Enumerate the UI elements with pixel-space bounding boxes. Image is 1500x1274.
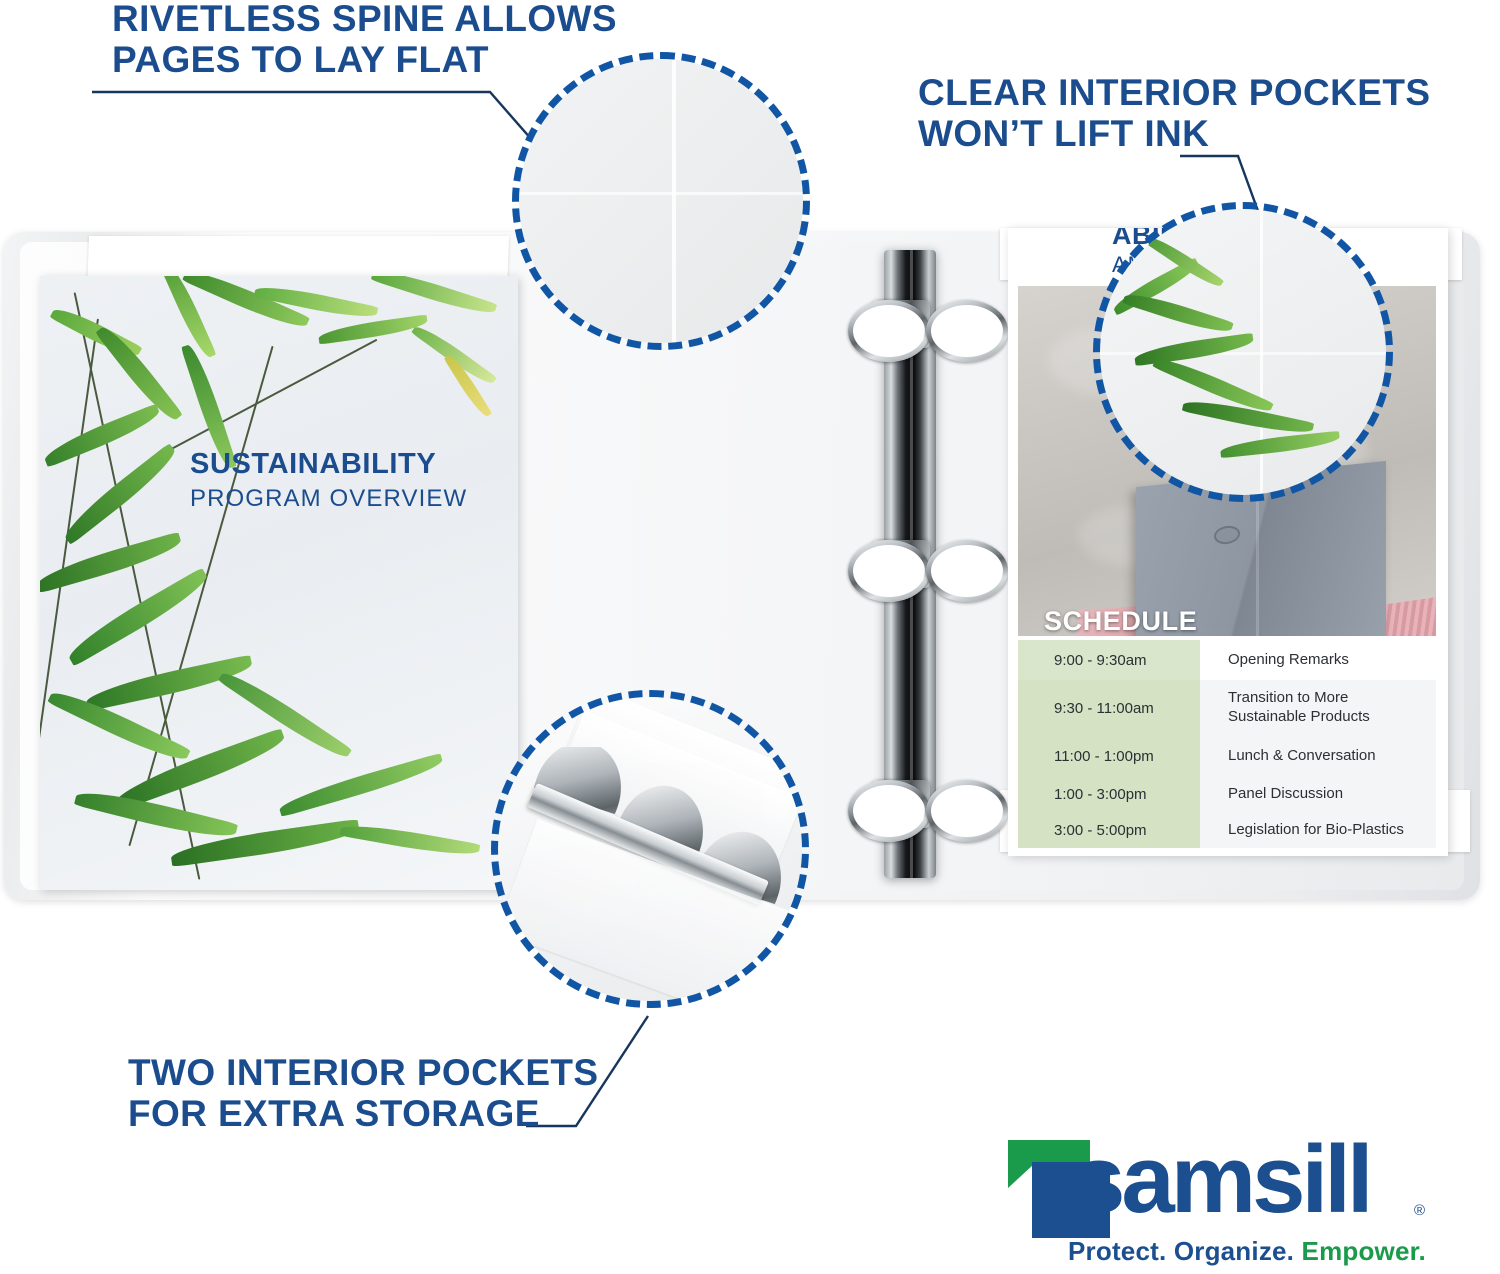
schedule-time-column: 9:00 - 9:30am 9:30 - 11:00am 11:00 - 1:0… [1018, 640, 1200, 848]
schedule-time-cell: 9:00 - 9:30am [1018, 640, 1200, 680]
ring-top [848, 300, 998, 352]
left-document-subtitle: PROGRAM OVERVIEW [190, 485, 510, 513]
ring-loop [848, 300, 930, 362]
schedule-table: 9:00 - 9:30am 9:30 - 11:00am 11:00 - 1:0… [1018, 640, 1436, 848]
ring-loop [926, 300, 1008, 362]
ring-loop [926, 540, 1008, 602]
leader-line-top-left [90, 80, 560, 210]
ring-middle [848, 540, 998, 592]
schedule-time-cell: 3:00 - 5:00pm [1018, 812, 1200, 848]
samsill-tagline: Protect. Organize. Empower. [1068, 1236, 1426, 1267]
bamboo-leaf [63, 567, 213, 666]
bamboo-leaf [277, 753, 445, 817]
left-document-sustainability: SUSTAINABILITY PROGRAM OVERVIEW [40, 276, 518, 890]
schedule-item-cell: Opening Remarks [1200, 640, 1436, 680]
callout-rivetless-spine: RIVETLESS SPINE ALLOWS PAGES TO LAY FLAT [112, 0, 617, 81]
left-document-title-block: SUSTAINABILITY PROGRAM OVERVIEW [190, 448, 510, 513]
schedule-item-cell: Lunch & Conversation [1200, 736, 1436, 776]
schedule-time-cell: 1:00 - 3:00pm [1018, 776, 1200, 812]
schedule-item-cell: Legislation for Bio-Plastics [1200, 812, 1436, 848]
callout-clear-interior-pockets: CLEAR INTERIOR POCKETS WON’T LIFT INK [918, 72, 1430, 155]
zoom-circle-clear-pockets [1093, 202, 1393, 502]
ring-bottom [848, 780, 998, 832]
schedule-time-cell: 11:00 - 1:00pm [1018, 736, 1200, 776]
registered-trademark-symbol: ® [1414, 1202, 1425, 1219]
ring-loop [848, 780, 930, 842]
zoom-circle-interior-pockets [491, 690, 809, 1008]
bamboo-leaf [411, 321, 497, 389]
samsill-logo: samsill ® Protect. Organize. Empower. [1006, 1136, 1446, 1264]
bamboo-leaf [340, 820, 481, 860]
callout-two-interior-pockets: TWO INTERIOR POCKETS FOR EXTRA STORAGE [128, 1052, 599, 1135]
ring-loop [926, 780, 1008, 842]
schedule-item-cell: Transition to More Sustainable Products [1200, 680, 1436, 736]
bamboo-leaf [371, 276, 498, 319]
schedule-item-column: Opening Remarks Transition to More Susta… [1200, 640, 1436, 848]
schedule-heading: SCHEDULE [1044, 606, 1197, 637]
samsill-wordmark: samsill [1072, 1132, 1370, 1228]
tagline-blue-text: Protect. Organize. [1068, 1236, 1302, 1266]
schedule-item-cell: Panel Discussion [1200, 776, 1436, 812]
product-infographic: RIVETLESS SPINE ALLOWS PAGES TO LAY FLAT… [0, 0, 1500, 1274]
zoom-circle-rivetless-spine [512, 52, 810, 350]
bamboo-leaf [41, 403, 163, 467]
tagline-green-text: Empower. [1302, 1236, 1426, 1266]
schedule-time-cell: 9:30 - 11:00am [1018, 680, 1200, 736]
left-document-title: SUSTAINABILITY [190, 448, 510, 481]
ring-loop [848, 540, 930, 602]
